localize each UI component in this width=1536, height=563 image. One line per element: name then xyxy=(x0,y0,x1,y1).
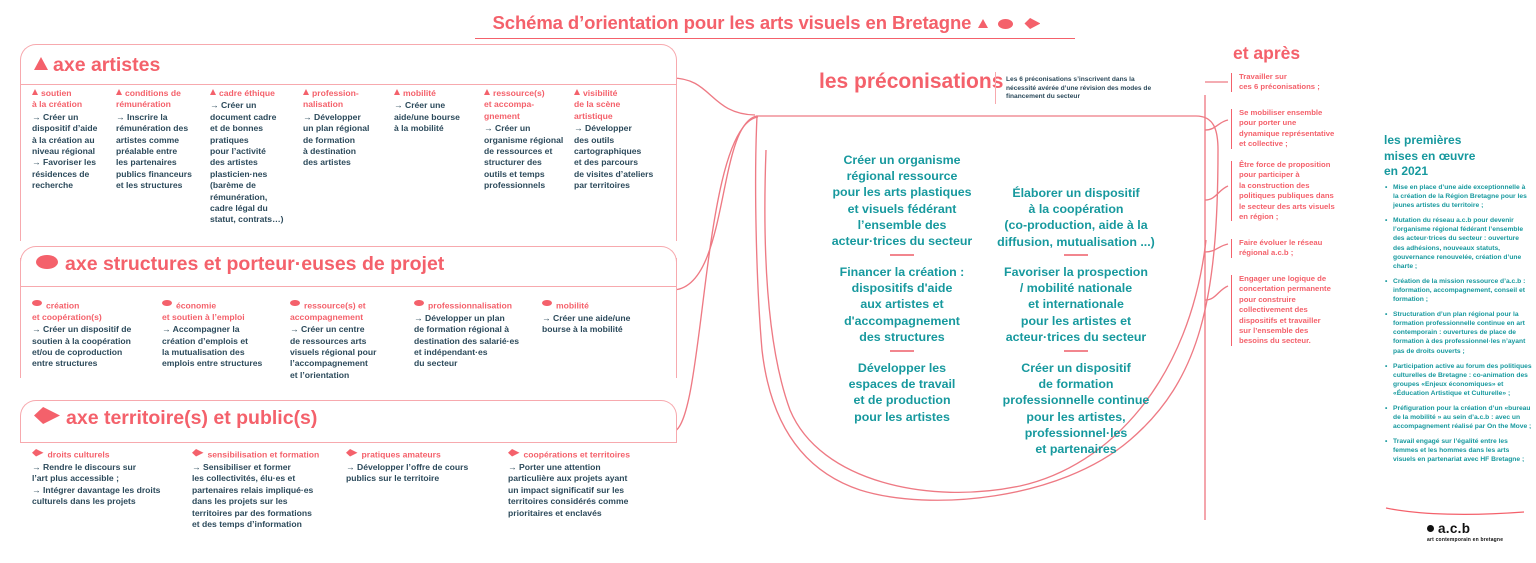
et-apres-item: Travailler sur ces 6 préconisations ; xyxy=(1231,72,1357,93)
column-body: → Créer un organisme régional de ressour… xyxy=(484,123,568,191)
column-body: → Sensibiliser et former les collectivit… xyxy=(192,462,342,530)
preconisation-item: Développer les espaces de travail et de … xyxy=(820,360,984,425)
diamond-icon xyxy=(32,449,44,457)
column-body: → Accompagner la création d’emplois et l… xyxy=(162,324,288,370)
acb-logo: a.c.b art contemporain en bretagne xyxy=(1427,521,1503,543)
column-title: ressource(s) et accompa- gnement xyxy=(484,88,568,122)
column-title: mobilité xyxy=(394,88,472,99)
axis-column: création et coopération(s) → Créer un di… xyxy=(32,300,156,370)
preconisation-separator xyxy=(890,254,914,256)
column-title: pratiques amateurs xyxy=(346,449,496,461)
preconisation-separator xyxy=(1064,350,1088,352)
ellipse-icon xyxy=(998,19,1013,29)
column-body: → Développer un plan de formation région… xyxy=(414,313,538,370)
page-title-text: Schéma d’orientation pour les arts visue… xyxy=(493,12,1044,34)
column-title: sensibilisation et formation xyxy=(192,449,342,461)
column-title: conditions de rémunération xyxy=(116,88,202,111)
diamond-icon xyxy=(508,449,520,457)
column-body: → Rendre le discours sur l’art plus acce… xyxy=(32,462,190,508)
preconisation-item: Créer un organisme régional ressource po… xyxy=(820,152,984,249)
preconisation-item: Élaborer un dispositif à la coopération … xyxy=(988,185,1164,250)
column-title: économie et soutien à l’emploi xyxy=(162,300,288,323)
ellipse-icon xyxy=(542,300,552,306)
axis-column: professionnalisation → Développer un pla… xyxy=(414,300,538,370)
column-title: mobilité xyxy=(542,300,660,312)
axis-column: mobilité → Créer une aide/une bourse à l… xyxy=(394,88,472,135)
column-title: cadre éthique xyxy=(210,88,294,99)
axis-column: cadre éthique → Créer un document cadre … xyxy=(210,88,294,226)
list-item: Participation active au forum des politi… xyxy=(1392,362,1532,398)
column-body: → Développer l’offre de cours publics su… xyxy=(346,462,496,485)
et-apres-item: Faire évoluer le réseau régional a.c.b ; xyxy=(1231,238,1359,259)
title-underline xyxy=(475,38,1075,39)
triangle-icon xyxy=(394,89,400,95)
preconisation-separator xyxy=(890,350,914,352)
axis-column: économie et soutien à l’emploi → Accompa… xyxy=(162,300,288,370)
axis-column: ressource(s) et accompagnement → Créer u… xyxy=(290,300,408,381)
axis-column: coopérations et territoires → Porter une… xyxy=(508,449,664,519)
premieres-mises-list: Mise en place d’une aide exceptionnelle … xyxy=(1384,183,1532,471)
column-title: profession- nalisation xyxy=(303,88,379,111)
diamond-icon xyxy=(1024,18,1040,29)
axis-column: profession- nalisation → Développer un p… xyxy=(303,88,379,169)
triangle-icon xyxy=(574,89,580,95)
triangle-icon xyxy=(34,57,48,70)
list-item: Structuration d’un plan régional pour la… xyxy=(1392,310,1532,355)
preconisations-heading: les préconisations xyxy=(819,70,1003,94)
column-title: coopérations et territoires xyxy=(508,449,664,461)
column-body: → Développer un plan régional de formati… xyxy=(303,112,379,169)
premieres-mises-heading: les premières mises en œuvre en 2021 xyxy=(1384,133,1524,180)
triangle-icon xyxy=(32,89,38,95)
column-title: création et coopération(s) xyxy=(32,300,156,323)
column-body: → Créer une aide/une bourse à la mobilit… xyxy=(542,313,660,336)
preconisation-separator xyxy=(1064,254,1088,256)
logo-tagline: art contemporain en bretagne xyxy=(1427,537,1503,543)
triangle-icon xyxy=(484,89,490,95)
column-title: ressource(s) et accompagnement xyxy=(290,300,408,323)
et-apres-heading: et après xyxy=(1233,43,1300,64)
et-apres-item: Se mobiliser ensemble pour porter une dy… xyxy=(1231,108,1361,150)
list-item: Création de la mission ressource d’a.c.b… xyxy=(1392,277,1532,304)
ellipse-icon xyxy=(162,300,172,306)
axis-rule-structures xyxy=(20,286,676,287)
column-body: → Créer un centre de ressources arts vis… xyxy=(290,324,408,381)
column-title: droits culturels xyxy=(32,449,190,461)
column-body: → Porter une attention particulière aux … xyxy=(508,462,664,519)
axis-column: droits culturels → Rendre le discours su… xyxy=(32,449,190,508)
axis-rule-artistes xyxy=(20,84,676,85)
preconisation-item: Créer un dispositif de formation profess… xyxy=(988,360,1164,457)
axis-column: sensibilisation et formation → Sensibili… xyxy=(192,449,342,530)
et-apres-item: Engager une logique de concertation perm… xyxy=(1231,274,1365,347)
column-body: → Créer un dispositif de soutien à la co… xyxy=(32,324,156,370)
axis-heading-artistes: axe artistes xyxy=(32,54,166,77)
ellipse-icon xyxy=(32,300,42,306)
list-item: Mise en place d’une aide exceptionnelle … xyxy=(1392,183,1532,210)
diamond-icon xyxy=(34,407,60,424)
axis-heading-structures: axe structures et porteur·euses de proje… xyxy=(34,253,450,276)
axis-column: visibilité de la scène artistique → Déve… xyxy=(574,88,660,192)
preconisations-note: Les 6 préconisations s’inscrivent dans l… xyxy=(1006,76,1156,102)
logo-name: a.c.b xyxy=(1427,521,1503,536)
column-title: soutien à la création xyxy=(32,88,104,111)
diamond-icon xyxy=(192,449,204,457)
triangle-icon xyxy=(210,89,216,95)
column-body: → Créer une aide/une bourse à la mobilit… xyxy=(394,100,472,134)
page-title-label: Schéma d’orientation pour les arts visue… xyxy=(493,12,972,33)
axis-column: ressource(s) et accompa- gnement → Créer… xyxy=(484,88,568,192)
column-title: professionnalisation xyxy=(414,300,538,312)
page-title: Schéma d’orientation pour les arts visue… xyxy=(0,12,1536,34)
triangle-icon xyxy=(116,89,122,95)
list-item: Travail engagé sur l’égalité entre les f… xyxy=(1392,437,1532,464)
column-body: → Développer des outils cartographiques … xyxy=(574,123,660,191)
axis-column: conditions de rémunération → Inscrire la… xyxy=(116,88,202,192)
preconisation-item: Financer la création : dispositifs d'aid… xyxy=(820,264,984,345)
et-apres-item: Être force de proposition pour participe… xyxy=(1231,160,1363,222)
list-item: Mutation du réseau a.c.b pour devenir l’… xyxy=(1392,216,1532,271)
column-body: → Créer un dispositif d’aide à la créati… xyxy=(32,112,104,192)
list-item: Préfiguration pour la création d’un «bur… xyxy=(1392,404,1532,431)
column-title: visibilité de la scène artistique xyxy=(574,88,660,122)
column-body: → Créer un document cadre et de bonnes p… xyxy=(210,100,294,225)
triangle-icon xyxy=(978,19,988,28)
ellipse-icon xyxy=(36,255,58,269)
axis-column: pratiques amateurs → Développer l’offre … xyxy=(346,449,496,485)
triangle-icon xyxy=(303,89,309,95)
axis-heading-territoires: axe territoire(s) et public(s) xyxy=(32,407,323,430)
preconisations-note-divider xyxy=(995,72,996,104)
axis-column: mobilité → Créer une aide/une bourse à l… xyxy=(542,300,660,336)
axis-rule-territoires xyxy=(20,442,676,443)
diamond-icon xyxy=(346,449,358,457)
preconisation-item: Favoriser la prospection / mobilité nati… xyxy=(988,264,1164,345)
ellipse-icon xyxy=(290,300,300,306)
column-body: → Inscrire la rémunération des artistes … xyxy=(116,112,202,192)
ellipse-icon xyxy=(414,300,424,306)
axis-column: soutien à la création → Créer un disposi… xyxy=(32,88,104,192)
dot-icon xyxy=(1427,525,1434,532)
